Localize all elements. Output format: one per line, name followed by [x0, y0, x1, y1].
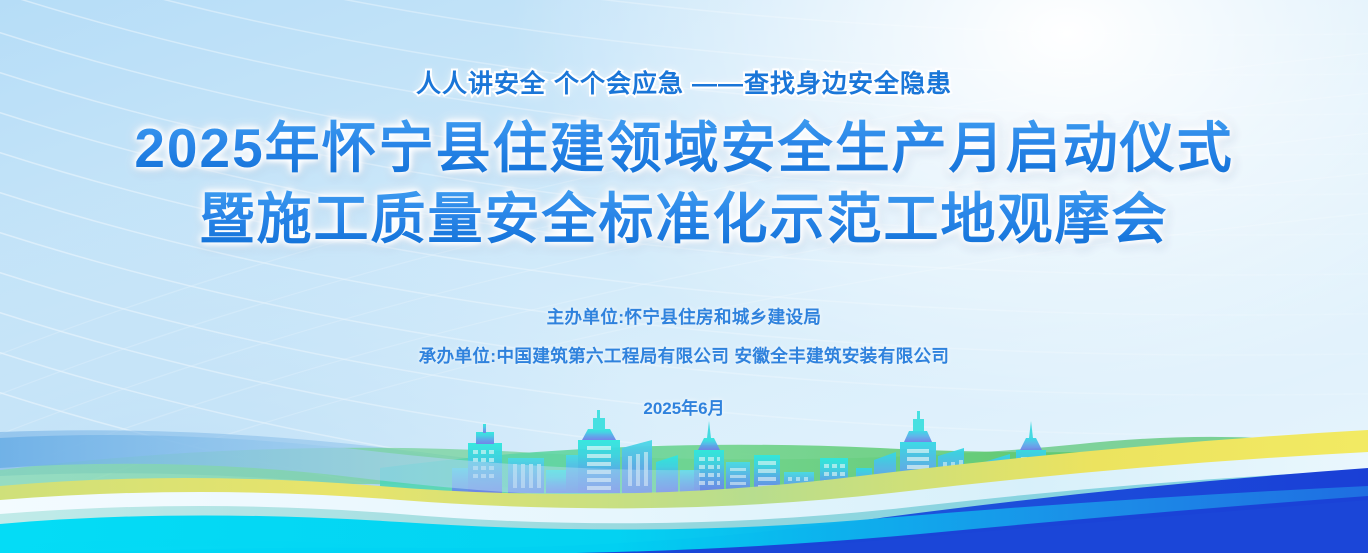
banner-title-line1: 2025年怀宁县住建领域安全生产月启动仪式 — [0, 116, 1368, 181]
organizer-block: 主办单位:怀宁县住房和城乡建设局 承办单位:中国建筑第六工程局有限公司 安徽全丰… — [0, 304, 1368, 419]
event-banner: 人人讲安全 个个会应急 ——查找身边安全隐患 2025年怀宁县住建领域安全生产月… — [0, 0, 1368, 553]
organizer-unit-line: 承办单位:中国建筑第六工程局有限公司 安徽全丰建筑安装有限公司 — [0, 343, 1368, 368]
banner-slogan: 人人讲安全 个个会应急 ——查找身边安全隐患 — [0, 64, 1368, 100]
banner-title-line2: 暨施工质量安全标准化示范工地观摩会 — [0, 187, 1368, 252]
banner-text-block: 人人讲安全 个个会应急 ——查找身边安全隐患 2025年怀宁县住建领域安全生产月… — [0, 0, 1368, 419]
host-unit-line: 主办单位:怀宁县住房和城乡建设局 — [0, 304, 1368, 329]
event-date: 2025年6月 — [0, 394, 1368, 419]
